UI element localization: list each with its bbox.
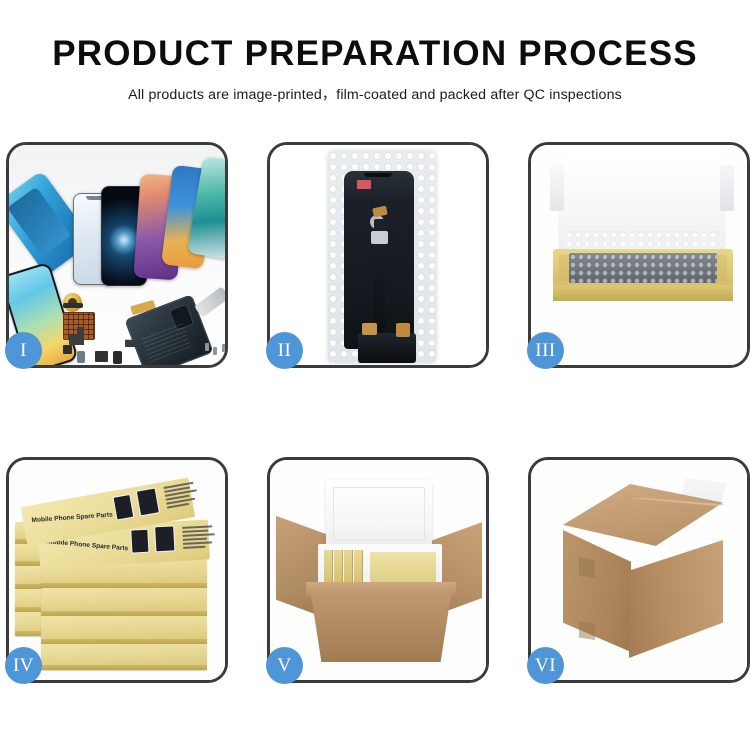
box-screen-thumb-4-image [154, 525, 175, 552]
yellow-box-edge-1-image [324, 550, 333, 586]
gold-contact-2-image [362, 323, 377, 335]
box-spec-lines-2 [182, 525, 219, 551]
box-front-6-image [41, 644, 207, 670]
step-4-numeral: IV [13, 655, 34, 677]
red-label-sticker-image [357, 180, 371, 189]
step-2-numeral: II [278, 340, 292, 362]
step-2-badge: II [266, 332, 303, 369]
step-1-photo [9, 145, 225, 365]
yellow-boxes-flat-stack-image [370, 552, 436, 586]
yellow-box-edge-4-image [354, 550, 363, 586]
foam-lid-open-image [326, 480, 432, 550]
step-5-numeral: V [277, 655, 291, 677]
step-3-badge: III [527, 332, 564, 369]
step-6-photo [531, 460, 747, 680]
step-1-components-panel: I [6, 142, 228, 368]
step-6-badge: VI [527, 647, 564, 684]
step-5-badge: V [266, 647, 303, 684]
connector-pad-image [371, 231, 388, 244]
assembly-base-image [358, 333, 416, 363]
process-steps-grid: I II [6, 142, 744, 683]
yellow-box-edge-3-image [344, 550, 353, 586]
step-3-photo [531, 145, 747, 365]
gold-contact-1-image [372, 206, 388, 218]
step-6-numeral: VI [535, 655, 556, 677]
small-part-2-image [113, 351, 122, 364]
bubble-wrapped-contents-image [569, 253, 717, 283]
small-part-1-image [95, 351, 108, 362]
box-front-5-image [41, 616, 207, 644]
carton-body-image [310, 588, 452, 662]
step-3-numeral: III [535, 340, 555, 362]
box-front-4-image [41, 588, 207, 616]
page-subtitle: All products are image-printed，film-coat… [0, 84, 750, 104]
box-screen-thumb-3-image [130, 529, 149, 554]
step-4-photo: Mobile Phone Spare Parts Mobile Phone Sp… [9, 460, 225, 680]
bubble-wrap-bag-image [328, 151, 436, 363]
yellow-box-edge-2-image [334, 550, 343, 586]
screen-assembly-image [344, 171, 414, 349]
step-5-carton-packing-panel: V [267, 457, 489, 683]
yellow-box-front-edge-image [553, 285, 733, 301]
speaker-part-image [63, 303, 83, 308]
small-part-4-image [63, 345, 72, 354]
step-1-numeral: I [20, 340, 27, 362]
step-6-sealed-carton-panel: VI [528, 457, 750, 683]
step-2-bubble-wrap-panel: II [267, 142, 489, 368]
page-header: PRODUCT PREPARATION PROCESS All products… [0, 0, 750, 104]
step-2-photo [270, 145, 486, 365]
gold-contact-3-image [396, 323, 410, 337]
yellow-boxes-inside-image [324, 550, 436, 586]
step-5-photo [270, 460, 486, 680]
page-title: PRODUCT PREPARATION PROCESS [0, 33, 750, 75]
small-part-3-image [77, 351, 85, 363]
step-3-inner-box-panel: III [528, 142, 750, 368]
step-1-badge: I [5, 332, 42, 369]
screws-group-image [205, 343, 225, 357]
box-screen-thumb-1-image [112, 494, 134, 521]
box-label-text-1: Mobile Phone Spare Parts [31, 511, 113, 524]
box-screen-thumb-2-image [136, 487, 160, 516]
step-4-boxes-stacked-panel: Mobile Phone Spare Parts Mobile Phone Sp… [6, 457, 228, 683]
step-4-badge: IV [5, 647, 42, 684]
